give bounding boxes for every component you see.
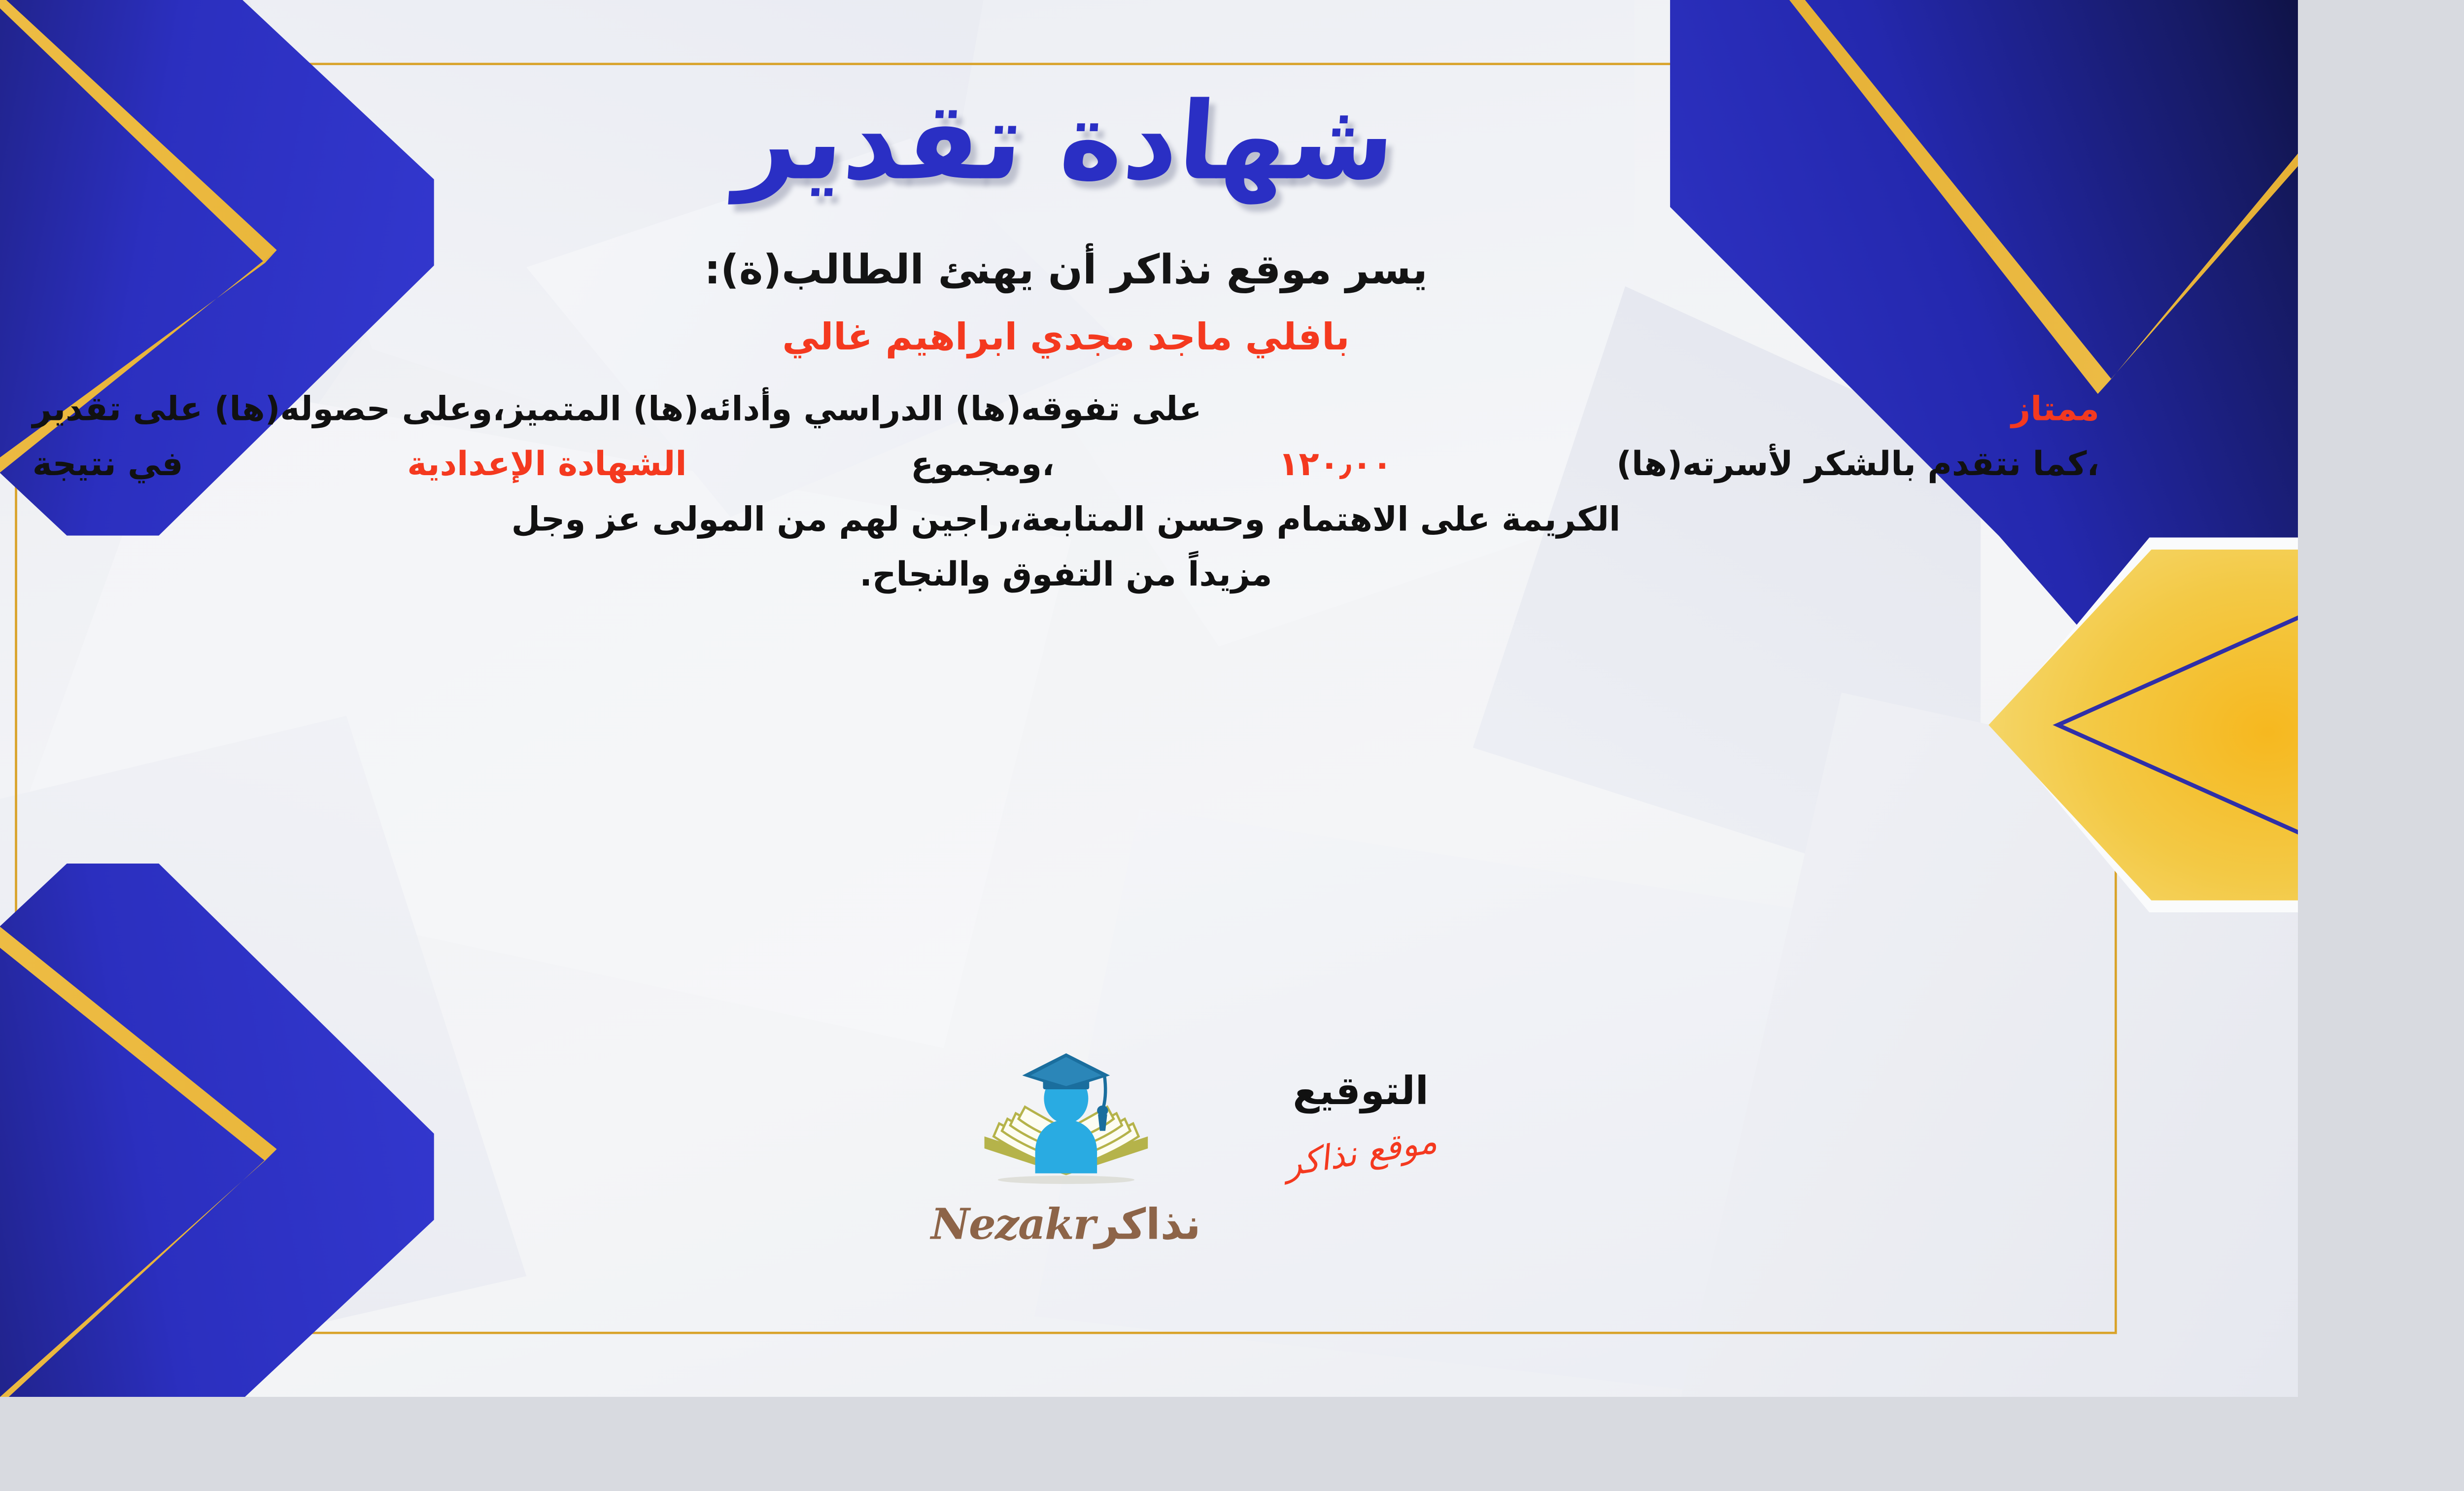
logo-text-arabic: نذاكر bbox=[1095, 1200, 1200, 1249]
total-label: ،ومجموع bbox=[911, 437, 1055, 492]
thanks-text: ،كما نتقدم بالشكر لأسرته(ها) bbox=[1616, 437, 2099, 492]
body-line-1-text: على تفوقه(ها) الدراسي وأدائه(ها) المتميز… bbox=[33, 381, 1202, 437]
page-title: شهادة تقدير bbox=[733, 78, 1400, 205]
logo-wordmark: نذاكرNezakr bbox=[890, 1199, 1241, 1249]
body-line-1: ممتاز على تفوقه(ها) الدراسي وأدائه(ها) ا… bbox=[33, 381, 2099, 437]
body-line-4: مزيداً من التفوق والنجاح. bbox=[33, 547, 2099, 602]
exam-name-value: الشهادة الإعدادية bbox=[407, 437, 686, 492]
result-label: في نتيجة bbox=[33, 437, 183, 492]
student-name: بافلي ماجد مجدي ابراهيم غالي bbox=[782, 315, 1349, 358]
graduate-book-logo-icon bbox=[958, 1049, 1174, 1202]
logo-text-latin: Nezakr bbox=[931, 1199, 1095, 1249]
body-line-3: الكريمة على الاهتمام وحسن المتابعة،راجين… bbox=[33, 492, 2099, 547]
grade-value: ممتاز bbox=[2011, 381, 2099, 437]
total-score-value: ١٢٠٫٠٠ bbox=[1278, 437, 1392, 492]
certificate-page: شهادة تقدير يسر موقع نذاكر أن يهنئ الطال… bbox=[0, 0, 2298, 1397]
signature-mark: موقع نذاكر bbox=[1282, 1121, 1439, 1184]
signature-block: التوقيع موقع نذاكر bbox=[1264, 1068, 1457, 1173]
certificate-content: شهادة تقدير يسر موقع نذاكر أن يهنئ الطال… bbox=[33, 69, 2099, 1328]
site-logo: نذاكرNezakr bbox=[890, 1049, 1241, 1249]
signature-label: التوقيع bbox=[1264, 1068, 1457, 1113]
greeting-line: يسر موقع نذاكر أن يهنئ الطالب(ة): bbox=[704, 245, 1428, 293]
body-paragraph: ممتاز على تفوقه(ها) الدراسي وأدائه(ها) ا… bbox=[33, 381, 2099, 602]
body-line-2: ،كما نتقدم بالشكر لأسرته(ها) ١٢٠٫٠٠ ،ومج… bbox=[33, 437, 2099, 492]
certificate-footer: التوقيع موقع نذاكر bbox=[33, 1049, 2099, 1308]
